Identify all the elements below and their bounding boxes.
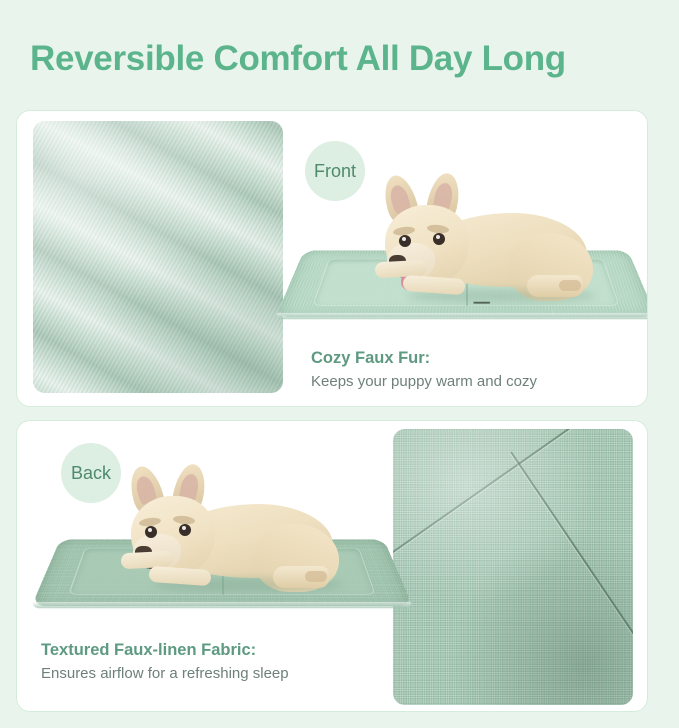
dog-eye-right bbox=[433, 233, 445, 245]
faux-fur-texture-image bbox=[33, 121, 283, 393]
linen-shading-layer bbox=[393, 429, 633, 705]
feature-card-front: Front bbox=[16, 110, 648, 407]
badge-front: Front bbox=[305, 141, 365, 201]
dog-eye-right bbox=[179, 524, 191, 536]
caption-front: Cozy Faux Fur: Keeps your puppy warm and… bbox=[311, 347, 537, 393]
badge-back: Back bbox=[61, 443, 121, 503]
product-photo-front bbox=[285, 189, 647, 339]
mat-front-edge bbox=[30, 602, 413, 609]
dog-eye-left bbox=[145, 526, 157, 538]
feature-card-back: Back bbox=[16, 420, 648, 712]
dog-eye-shine-right bbox=[436, 235, 440, 239]
dog-back bbox=[113, 482, 345, 598]
dog-eye-shine-left bbox=[148, 528, 152, 532]
mat-front-edge bbox=[274, 313, 648, 320]
badge-front-label: Front bbox=[314, 161, 356, 182]
caption-front-subtext: Keeps your puppy warm and cozy bbox=[311, 371, 537, 393]
dog-hind-paw bbox=[527, 275, 583, 297]
dog-hind-paw bbox=[273, 566, 329, 588]
dog-toes bbox=[559, 280, 581, 291]
badge-back-label: Back bbox=[71, 463, 111, 484]
caption-back-heading: Textured Faux-linen Fabric: bbox=[41, 639, 289, 661]
dog-front bbox=[367, 191, 597, 309]
dog-toes bbox=[305, 571, 327, 582]
faux-linen-texture-image bbox=[393, 429, 633, 705]
fur-sheen-layer bbox=[33, 121, 283, 393]
caption-front-heading: Cozy Faux Fur: bbox=[311, 347, 537, 369]
caption-back-subtext: Ensures airflow for a refreshing sleep bbox=[41, 663, 289, 685]
page-title: Reversible Comfort All Day Long bbox=[30, 36, 660, 82]
dog-eye-shine-right bbox=[182, 526, 186, 530]
dog-eye-left bbox=[399, 235, 411, 247]
dog-eye-shine-left bbox=[402, 237, 406, 241]
dog-front-paw-left bbox=[403, 275, 466, 295]
caption-back: Textured Faux-linen Fabric: Ensures airf… bbox=[41, 639, 289, 685]
